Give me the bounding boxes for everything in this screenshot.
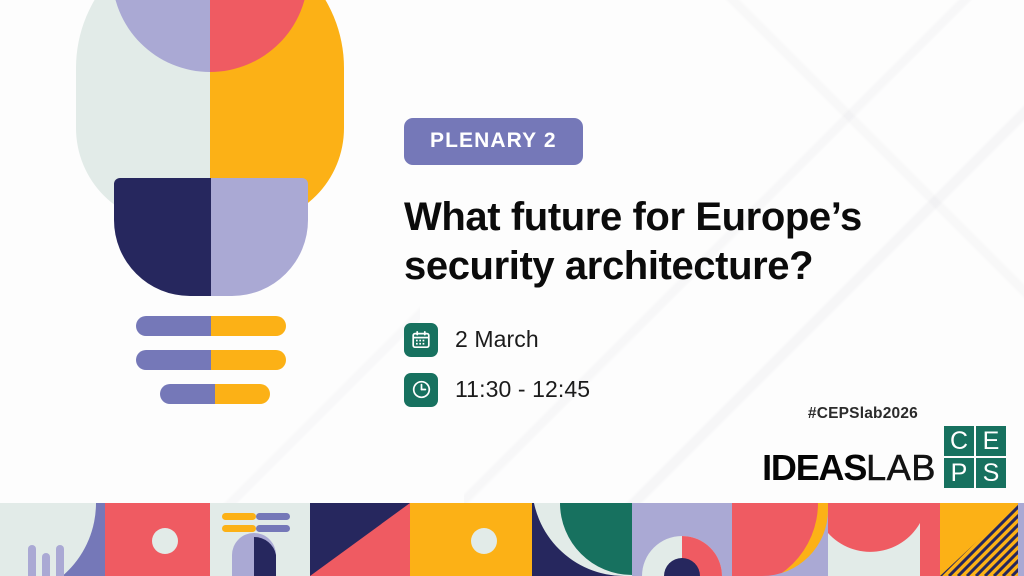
lightbulb-inner-right: [210, 0, 308, 72]
session-date: 2 March: [455, 326, 539, 353]
pattern-tile: [1018, 503, 1024, 576]
pattern-tile: [632, 503, 732, 576]
pattern-tile: [828, 503, 920, 576]
logo-row: IDEAS LAB C E P S: [762, 426, 1006, 488]
pattern-tile: [920, 503, 940, 576]
lightbulb-inner-left: [112, 0, 210, 72]
pattern-tile: [105, 503, 210, 576]
pattern-tile: [732, 503, 828, 576]
page-title: What future for Europe’s security archit…: [404, 193, 944, 291]
lightbulb-bar-3: [160, 384, 270, 404]
plenary-badge: PLENARY 2: [404, 118, 583, 165]
lightbulb-base-right: [211, 178, 308, 296]
ceps-letter-c: C: [944, 426, 974, 456]
calendar-icon: [404, 323, 438, 357]
logo-lockup: #CEPSlab2026 IDEAS LAB C E P S: [762, 405, 1006, 488]
pattern-tile: [532, 503, 632, 576]
ceps-letter-e: E: [976, 426, 1006, 456]
session-time: 11:30 - 12:45: [455, 376, 590, 403]
pattern-tile: [0, 503, 105, 576]
ideas-lab-wordmark: IDEAS LAB: [762, 450, 936, 486]
lightbulb-inner-circle: [112, 0, 308, 72]
session-content: PLENARY 2 What future for Europe’s secur…: [404, 118, 984, 423]
event-hashtag: #CEPSlab2026: [762, 405, 918, 423]
lightbulb-bar-1: [136, 316, 286, 336]
lightbulb-base-left: [114, 178, 211, 296]
page-title-line-2: security architecture?: [404, 242, 944, 291]
pattern-tile: [940, 503, 1018, 576]
lightbulb-base: [114, 178, 308, 296]
ceps-letter-p: P: [944, 458, 974, 488]
pattern-tile: [210, 503, 310, 576]
session-time-row: 11:30 - 12:45: [404, 373, 984, 407]
page-title-line-1: What future for Europe’s: [404, 193, 944, 242]
ceps-letter-s: S: [976, 458, 1006, 488]
ceps-logo: C E P S: [944, 426, 1006, 488]
pattern-tile: [410, 503, 436, 576]
session-meta: 2 March 11:30 - 12:45: [404, 323, 984, 407]
wordmark-lab: LAB: [866, 450, 936, 486]
clock-icon: [404, 373, 438, 407]
ideas-lab-lightbulb-icon: [28, 0, 388, 404]
slide-canvas: PLENARY 2 What future for Europe’s secur…: [0, 0, 1024, 576]
pattern-tile: [310, 503, 410, 576]
pattern-tile: [436, 503, 532, 576]
lightbulb-bar-2: [136, 350, 286, 370]
session-date-row: 2 March: [404, 323, 984, 357]
decorative-pattern-strip: [0, 503, 1024, 576]
wordmark-ideas: IDEAS: [762, 450, 866, 486]
